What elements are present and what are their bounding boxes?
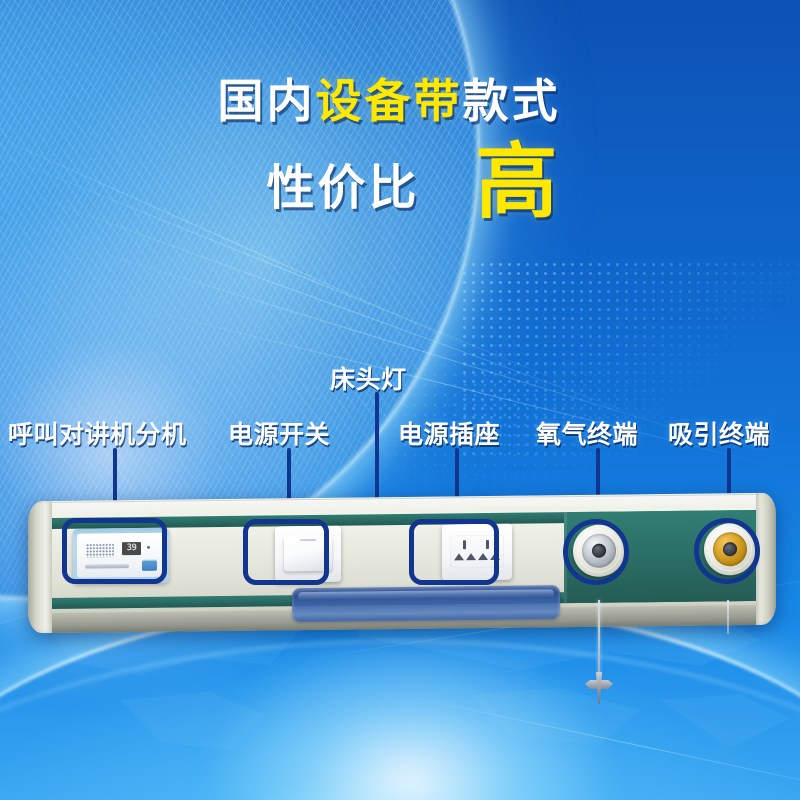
oxygen-terminal-port[interactable]: [592, 544, 606, 558]
intercom-mic-slot: [85, 564, 129, 568]
hook-icon: [585, 672, 613, 704]
bed-lamp-strip[interactable]: [292, 585, 560, 622]
product-banner: 国内设备带款式 性价比 高 呼叫对讲机分机 电源开关 床头灯 电源插座 氧气终端…: [0, 0, 800, 800]
bed-head-unit-panel: 39: [28, 497, 776, 629]
callout-label-bed-lamp: 床头灯: [330, 360, 407, 396]
power-switch-rocker[interactable]: [284, 535, 332, 572]
suction-terminal-port[interactable]: [723, 542, 737, 556]
seven-segment-display-icon: 39: [122, 542, 141, 555]
socket-pins-icon: [450, 535, 504, 569]
callout-label-oxygen-terminal: 氧气终端: [536, 415, 638, 451]
callout-label-suction-terminal: 吸引终端: [668, 415, 770, 451]
panel-end-cap-left: [28, 501, 52, 633]
panel-end-cap-right: [756, 493, 776, 625]
intercom-face: 39: [77, 533, 165, 578]
speaker-grille-icon: [86, 543, 114, 557]
callout-label-power-switch: 电源开关: [228, 415, 330, 451]
suction-terminal[interactable]: [704, 523, 756, 576]
oxygen-terminal[interactable]: [573, 524, 625, 577]
power-switch[interactable]: [275, 526, 341, 583]
nurse-call-intercom[interactable]: 39: [73, 528, 169, 584]
panel-inner: 39: [28, 493, 776, 633]
callout-layer: 呼叫对讲机分机 电源开关 床头灯 电源插座 氧气终端 吸引终端: [0, 0, 800, 800]
intercom-call-button[interactable]: [142, 560, 157, 571]
callout-label-power-socket: 电源插座: [398, 415, 500, 451]
indicator-led: [147, 546, 150, 549]
hanging-cord: [598, 600, 600, 678]
hanging-cord-secondary: [727, 600, 729, 634]
callout-label-intercom: 呼叫对讲机分机: [8, 415, 187, 451]
power-socket[interactable]: [442, 524, 512, 581]
